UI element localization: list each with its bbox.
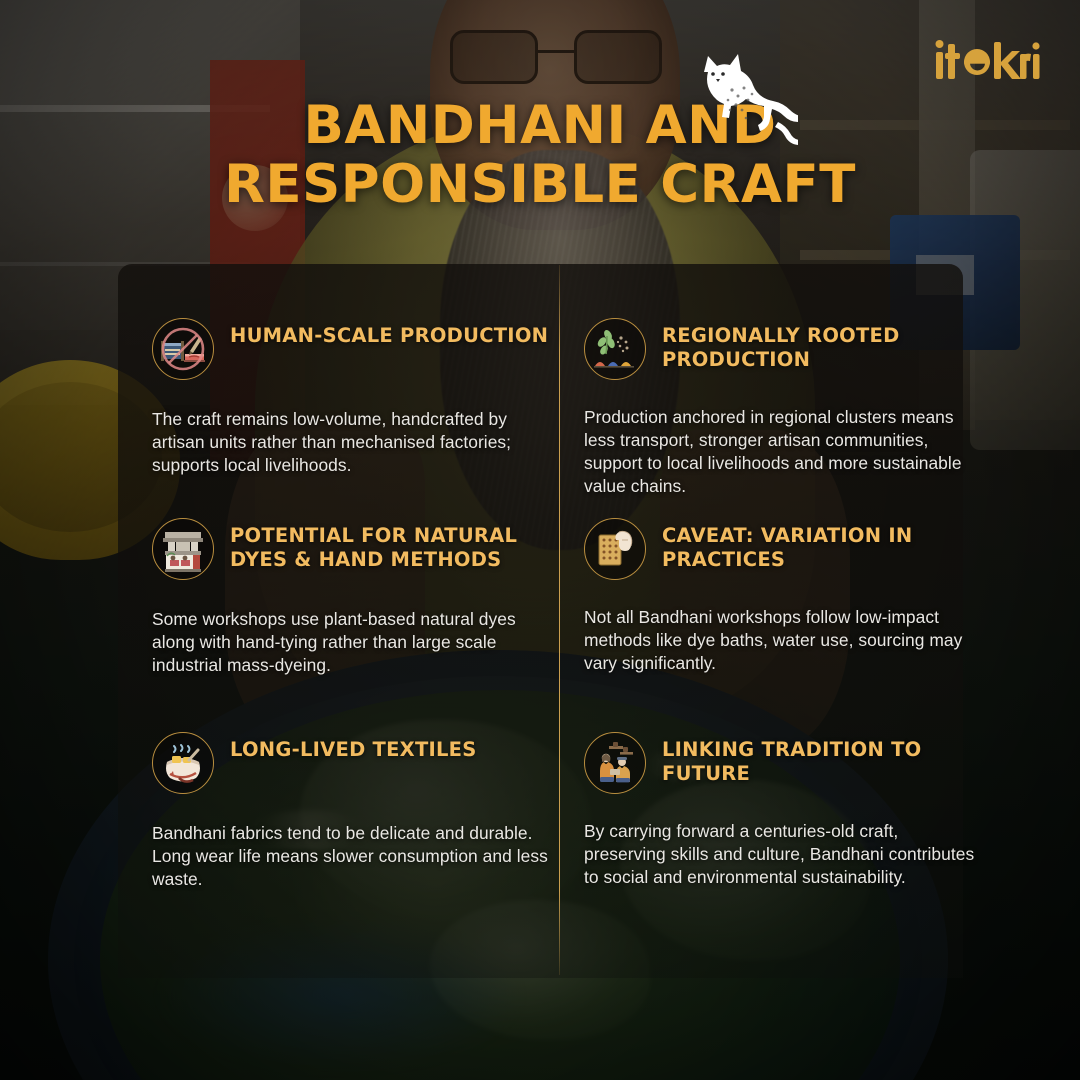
feature-body: Production anchored in regional clusters…	[584, 406, 984, 499]
hand-holding-bandhani-fabric-icon	[584, 518, 646, 580]
feature-title: POTENTIAL FOR NATURAL DYES & HAND METHOD…	[230, 518, 552, 573]
page-title: BANDHANI AND RESPONSIBLE CRAFT	[0, 96, 1080, 215]
feature-item-caveat-variation-practices[interactable]: CAVEAT: VARIATION IN PRACTICES Not all B…	[584, 518, 984, 675]
feature-title: LONG-LIVED TEXTILES	[230, 732, 477, 762]
feature-item-long-lived-textiles[interactable]: LONG-LIVED TEXTILES Bandhani fabrics ten…	[152, 732, 552, 891]
feature-body: Not all Bandhani workshops follow low-im…	[584, 606, 984, 675]
feature-body: Bandhani fabrics tend to be delicate and…	[152, 822, 552, 891]
no-factory-icon	[152, 318, 214, 380]
two-artisans-icon	[584, 732, 646, 794]
craft-workshop-building-icon	[152, 518, 214, 580]
feature-title: REGIONALLY ROOTED PRODUCTION	[662, 318, 984, 373]
feature-item-natural-dyes-hand-methods[interactable]: POTENTIAL FOR NATURAL DYES & HAND METHOD…	[152, 518, 552, 677]
feature-item-regionally-rooted-production[interactable]: REGIONALLY ROOTED PRODUCTION Production …	[584, 318, 984, 499]
title-line-2: RESPONSIBLE CRAFT	[0, 155, 1080, 214]
feature-body: Some workshops use plant-based natural d…	[152, 608, 552, 677]
title-line-1: BANDHANI AND	[0, 96, 1080, 155]
cat-silhouette-icon	[686, 50, 798, 150]
itokri-wordmark-icon	[934, 38, 1040, 82]
feature-item-linking-tradition-future[interactable]: LINKING TRADITION TO FUTURE By carrying …	[584, 732, 984, 889]
feature-title: CAVEAT: VARIATION IN PRACTICES	[662, 518, 984, 573]
feature-body: By carrying forward a centuries-old craf…	[584, 820, 984, 889]
seedling-natural-dye-icon	[584, 318, 646, 380]
feature-title: LINKING TRADITION TO FUTURE	[662, 732, 984, 787]
feature-body: The craft remains low-volume, handcrafte…	[152, 408, 552, 477]
feature-item-human-scale-production[interactable]: HUMAN-SCALE PRODUCTION The craft remains…	[152, 318, 552, 477]
feature-title: HUMAN-SCALE PRODUCTION	[230, 318, 548, 348]
column-divider	[559, 265, 560, 975]
steaming-dye-pot-icon	[152, 732, 214, 794]
brand-logo[interactable]	[934, 38, 1040, 82]
